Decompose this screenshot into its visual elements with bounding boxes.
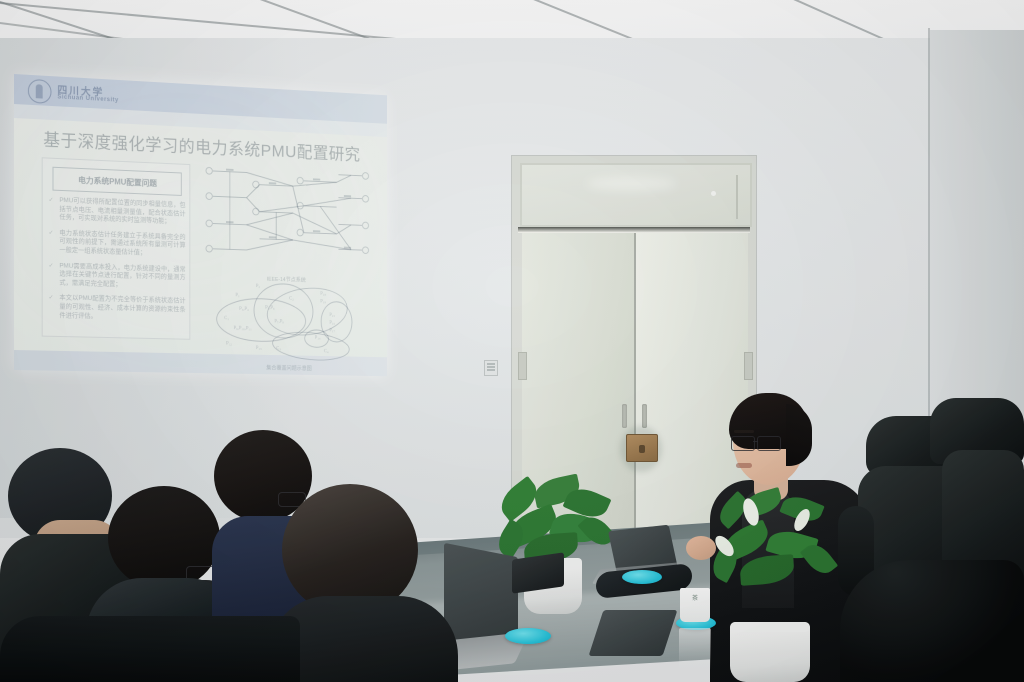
transom-window <box>520 163 752 227</box>
slide-text-panel: 电力系统PMU配置问题 PMU可以获得所配置位置的同步相量信息，包括节点电压、电… <box>42 157 191 339</box>
set-cover-venn-diagram: P₁P₂ P₃,P₄P₅,P₆ P₇,P₈P₉,P₁₀,P₁₁ P₁₂P₁₃ P… <box>207 276 369 363</box>
svg-text:P₁₅: P₁₅ <box>329 313 335 318</box>
foreground-chair-right <box>840 560 1024 682</box>
svg-text:C₃: C₃ <box>276 346 281 351</box>
door-lock-plate[interactable] <box>626 434 658 462</box>
window-glare <box>586 176 677 192</box>
presenter-glasses-icon <box>731 436 785 449</box>
electrical-outlet-plate[interactable] <box>484 360 498 376</box>
slide-bullet: 本文以PMU配置为不完全等价于系统状态估计量的可观性、经济、成本计算的资源约束性… <box>49 294 186 323</box>
svg-text:P₁₂: P₁₂ <box>226 341 232 346</box>
conference-room-photo: 四川大学 Sichuan University 基于深度强化学习的电力系统PMU… <box>0 0 1024 682</box>
svg-text:C₂: C₂ <box>289 297 294 302</box>
svg-text:P₂: P₂ <box>256 284 260 289</box>
wireless-charger-coaster[interactable] <box>622 570 662 584</box>
svg-text:P₇,P₈: P₇,P₈ <box>274 319 284 324</box>
presenter-hand <box>686 536 716 560</box>
door-hinge <box>744 352 753 380</box>
door-center-seam <box>634 233 636 576</box>
svg-text:P₉,P₁₀,P₁₁: P₉,P₁₀,P₁₁ <box>234 326 252 331</box>
svg-text:P₁₇: P₁₇ <box>329 328 335 333</box>
cup-reflection <box>679 628 711 670</box>
svg-text:P₁₆: P₁₆ <box>329 321 335 326</box>
svg-text:P₁: P₁ <box>235 293 239 298</box>
door-handle-right[interactable] <box>642 404 647 428</box>
section-box-heading: 电力系统PMU配置问题 <box>53 167 182 196</box>
power-system-one-line-diagram: IEEE-14节点系统 <box>204 163 368 275</box>
window-latch[interactable] <box>736 175 738 219</box>
svg-text:P₁₈: P₁₈ <box>320 292 326 297</box>
svg-text:P₅,P₆: P₅,P₆ <box>265 306 275 311</box>
slide-surface: 四川大学 Sichuan University 基于深度强化学习的电力系统PMU… <box>14 74 387 376</box>
door-hinge <box>518 352 527 380</box>
svg-text:P₁₉: P₁₉ <box>320 299 326 304</box>
svg-text:P₁₃: P₁₃ <box>256 346 262 351</box>
slide-bullet: PMU需要高成本投入，电力系统建设中，通常选择在关键节点进行配置，针对不同的量测… <box>49 262 186 292</box>
cup-label: 茶 <box>680 596 710 603</box>
slide-bullet-list: PMU可以获得所配置位置的同步相量信息，包括节点电压、电流相量测量值，配合状态估… <box>49 196 186 330</box>
svg-text:P₃,P₄: P₃,P₄ <box>239 307 249 312</box>
svg-text:C₄: C₄ <box>324 349 329 354</box>
wireless-charger-coaster[interactable] <box>505 628 551 644</box>
right-wall <box>930 30 1024 450</box>
door-handle-left[interactable] <box>622 404 627 428</box>
sichuan-university-seal-icon <box>28 79 52 104</box>
projected-slide: 四川大学 Sichuan University 基于深度强化学习的电力系统PMU… <box>14 74 387 376</box>
slide-bullet: PMU可以获得所配置位置的同步相量信息，包括节点电压、电流相量测量值，配合状态估… <box>49 196 186 227</box>
svg-text:P₁₄: P₁₄ <box>315 336 321 341</box>
slide-bullet: 电力系统状态估计任务建立于系统具备完全的可观性的前提下，需通过系统所有量测可计算… <box>49 229 186 259</box>
foreground-shadow-mass <box>0 616 300 682</box>
window-highlight <box>711 191 716 196</box>
wall-corner <box>928 28 930 448</box>
svg-text:C₁: C₁ <box>224 316 229 321</box>
